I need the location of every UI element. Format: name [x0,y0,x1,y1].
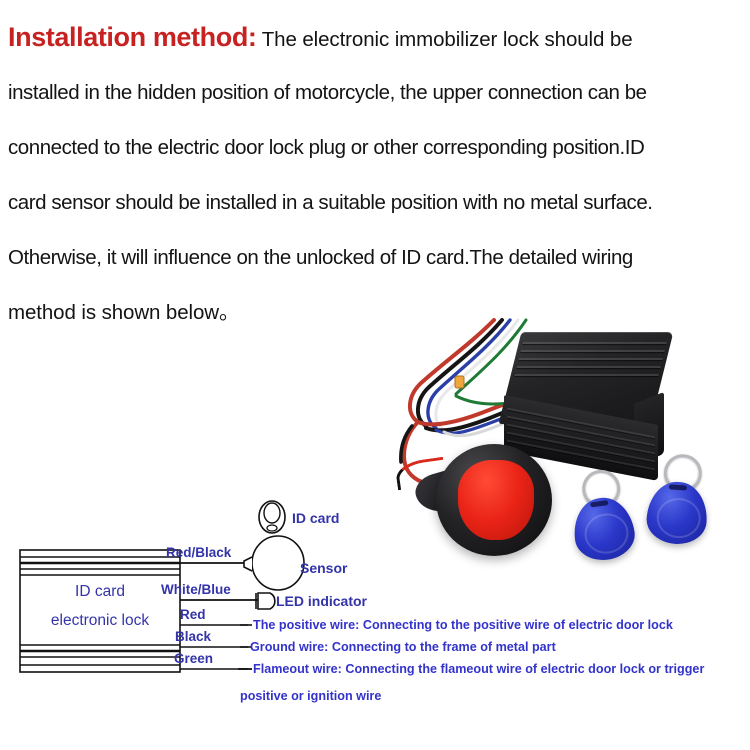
wire-label-red: Red [180,607,206,622]
description-flameout-wire: Flameout wire: Connecting the flameout w… [253,662,704,676]
intro-line-4: card sensor should be installed in a sui… [8,175,744,230]
led-indicator-label: LED indicator [276,593,367,609]
intro-line-3: connected to the electric door lock plug… [8,120,744,175]
description-ground-wire: Ground wire: Connecting to the frame of … [250,640,556,654]
id-card-label: ID card [292,510,339,526]
wire-label-black: Black [175,629,211,644]
lock-box-label-line2: electronic lock [20,606,180,635]
intro-text-1: The electronic immobilizer lock should b… [262,28,633,51]
intro-line-1: Installation method: The electronic immo… [8,10,744,65]
installation-instructions-page: Installation method: The electronic immo… [0,0,750,750]
intro-paragraph: Installation method: The electronic immo… [8,10,744,340]
wire-label-green: Green [174,651,213,666]
sensor-label: Sensor [300,560,347,576]
description-flameout-wire-cont: positive or ignition wire [240,689,381,703]
wiring-diagram: ID card electronic lock ID card Sensor L… [0,495,750,750]
wire-label-red-black: Red/Black [166,545,231,560]
lock-box-label: ID card electronic lock [20,577,180,635]
wire-label-white-blue: White/Blue [161,582,231,597]
lock-box-label-line1: ID card [20,577,180,606]
intro-line-5: Otherwise, it will influence on the unlo… [8,230,744,285]
intro-line-2: installed in the hidden position of moto… [8,65,744,120]
description-positive-wire: The positive wire: Connecting to the pos… [253,618,673,632]
page-title: Installation method: [8,22,257,52]
